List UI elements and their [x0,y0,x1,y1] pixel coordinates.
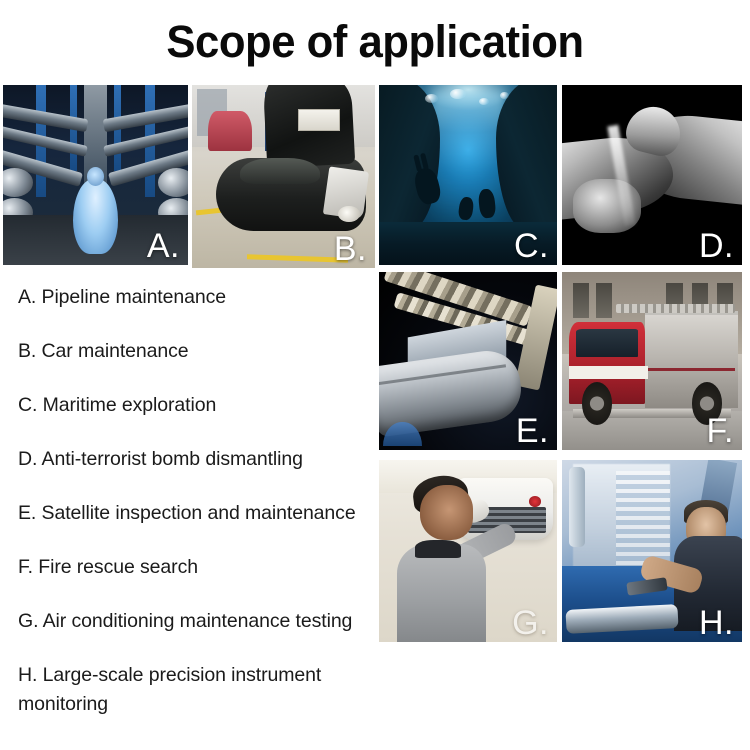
panel-label-c: C. [514,229,549,263]
panel-instrument-monitoring: H. [562,460,742,642]
caption-item-g: G. Air conditioning maintenance testing [18,607,380,636]
panel-label-d: D. [699,229,734,263]
panel-label-h: H. [699,606,734,640]
panel-satellite-inspection: E. [379,272,557,450]
page-title: Scope of application [11,17,739,67]
panel-bomb-dismantling: D. [562,85,742,265]
panel-fire-rescue: F. [562,272,742,450]
panel-label-g: G. [512,606,549,640]
caption-item-f: F. Fire rescue search [18,553,380,582]
panel-label-f: F. [707,414,734,448]
panel-maritime-exploration: C. [379,85,557,265]
caption-item-b: B. Car maintenance [18,337,380,366]
caption-item-a: A. Pipeline maintenance [18,283,380,312]
caption-list: A. Pipeline maintenance B. Car maintenan… [18,283,380,719]
caption-item-e: E. Satellite inspection and maintenance [18,499,380,528]
panel-label-a: A. [147,229,180,263]
caption-item-c: C. Maritime exploration [18,391,380,420]
caption-item-d: D. Anti-terrorist bomb dismantling [18,445,380,474]
panel-label-b: B. [334,232,367,266]
panel-car-maintenance: B. [192,85,375,268]
panel-label-e: E. [516,414,549,448]
panel-pipeline-maintenance: A. [3,85,188,265]
panel-air-conditioning: G. [379,460,557,642]
caption-item-h: H. Large-scale precision instrument moni… [18,661,380,719]
